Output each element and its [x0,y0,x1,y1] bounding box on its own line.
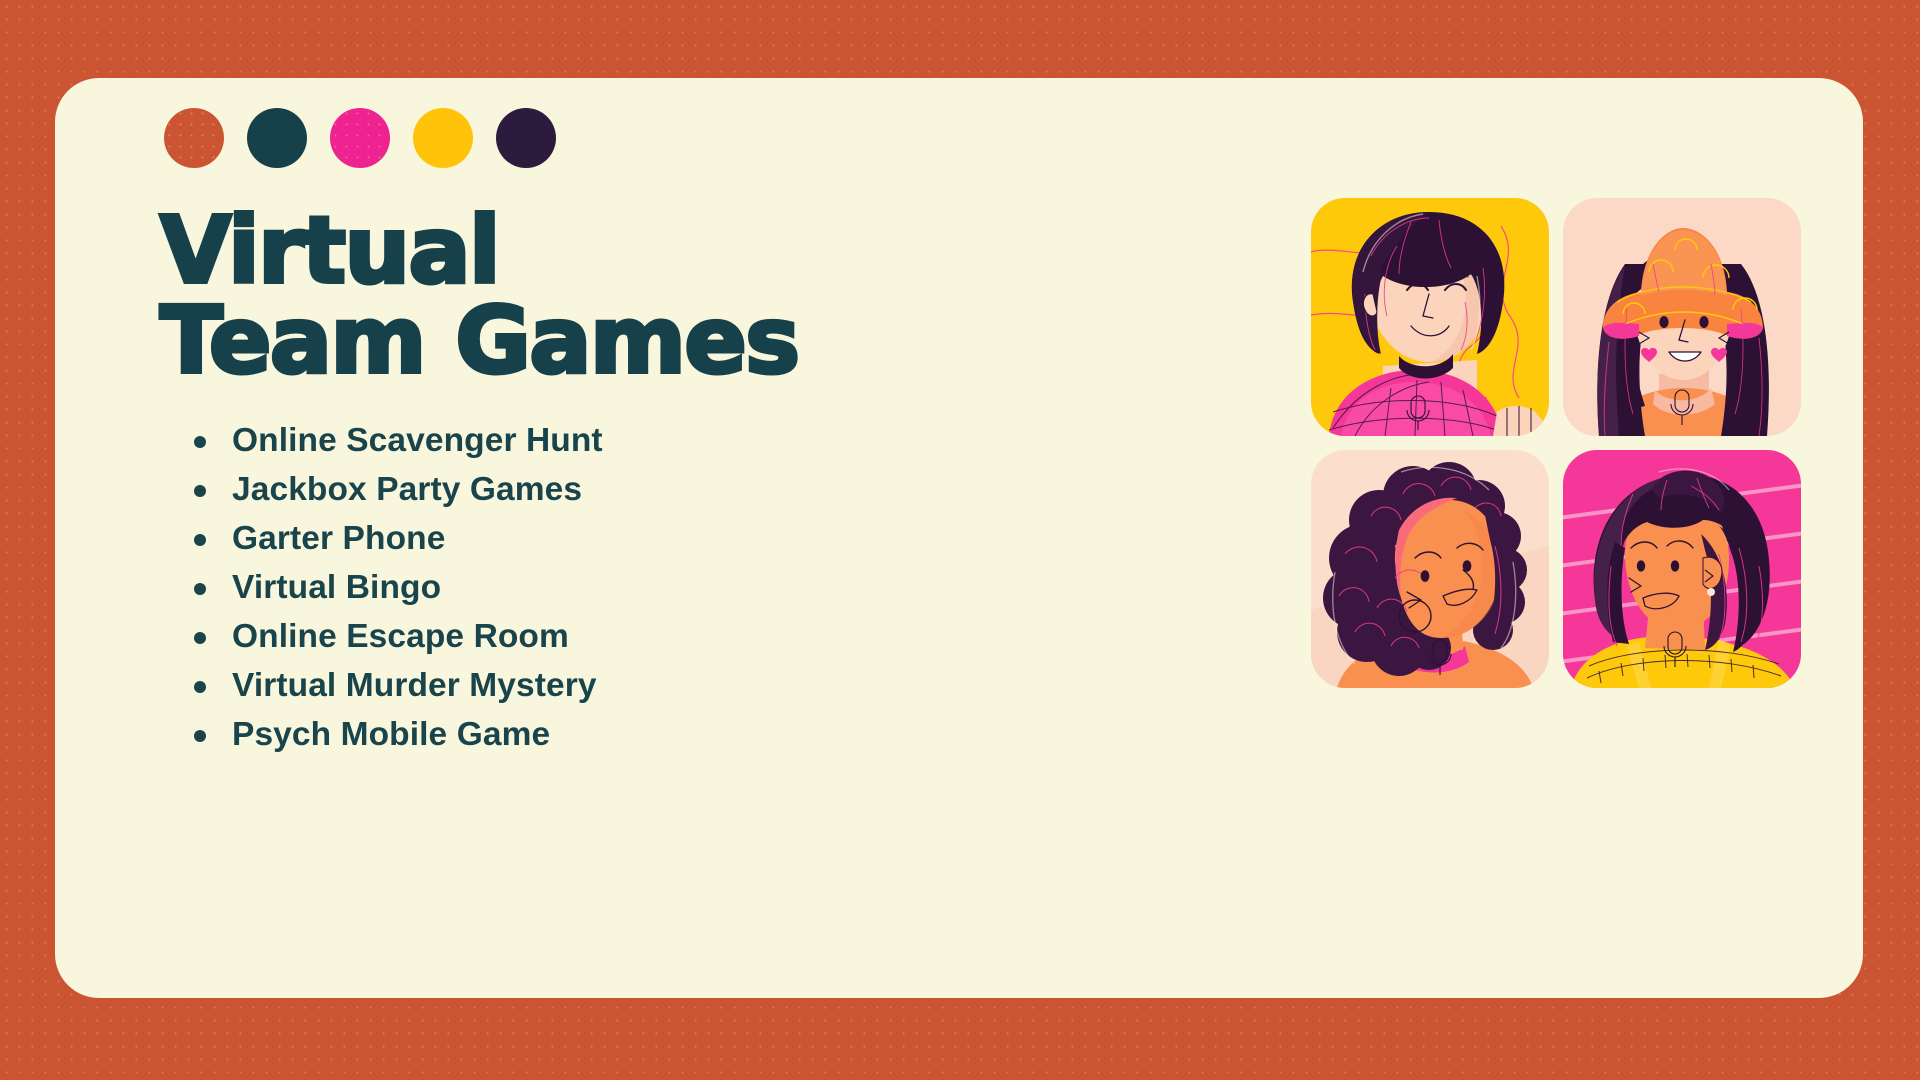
title-line-1: Virtual [160,206,990,296]
palette-dot-magenta [330,108,390,168]
palette-dot-dark-teal [247,108,307,168]
bullet-icon [194,485,206,497]
bullet-icon [194,583,206,595]
avatar-wavy-hair-pink [1563,450,1801,688]
bullet-icon [194,681,206,693]
list-item: Jackbox Party Games [188,473,990,507]
list-item: Virtual Bingo [188,571,990,605]
list-item-label: Virtual Murder Mystery [232,667,597,704]
games-list: Online Scavenger Hunt Jackbox Party Game… [188,424,990,752]
page-title: Virtual Team Games [160,206,990,386]
list-item-label: Online Escape Room [232,618,569,655]
palette-dots [164,108,990,168]
list-item-label: Psych Mobile Game [232,716,550,753]
bullet-icon [194,436,206,448]
avatar-curly-afro-peach [1311,450,1549,688]
list-item-label: Online Scavenger Hunt [232,422,603,459]
list-item: Virtual Murder Mystery [188,669,990,703]
content-card: Virtual Team Games Online Scavenger Hunt… [55,78,1863,998]
avatar-grid [1311,198,1811,703]
list-item-label: Jackbox Party Games [232,471,582,508]
avatar-bucket-hat-peach [1563,198,1801,436]
list-item-label: Virtual Bingo [232,569,441,606]
list-item: Psych Mobile Game [188,718,990,752]
palette-dot-dark-purple [496,108,556,168]
left-column: Virtual Team Games Online Scavenger Hunt… [110,108,990,767]
poster-canvas: Virtual Team Games Online Scavenger Hunt… [0,0,1920,1080]
list-item: Online Escape Room [188,620,990,654]
list-item: Garter Phone [188,522,990,556]
list-item: Online Scavenger Hunt [188,424,990,458]
avatar-bob-haircut-yellow [1311,198,1549,436]
list-item-label: Garter Phone [232,520,445,557]
bullet-icon [194,534,206,546]
bullet-icon [194,632,206,644]
palette-dot-yellow [413,108,473,168]
palette-dot-terracotta [164,108,224,168]
title-line-2: Team Games [160,296,990,386]
bullet-icon [194,730,206,742]
